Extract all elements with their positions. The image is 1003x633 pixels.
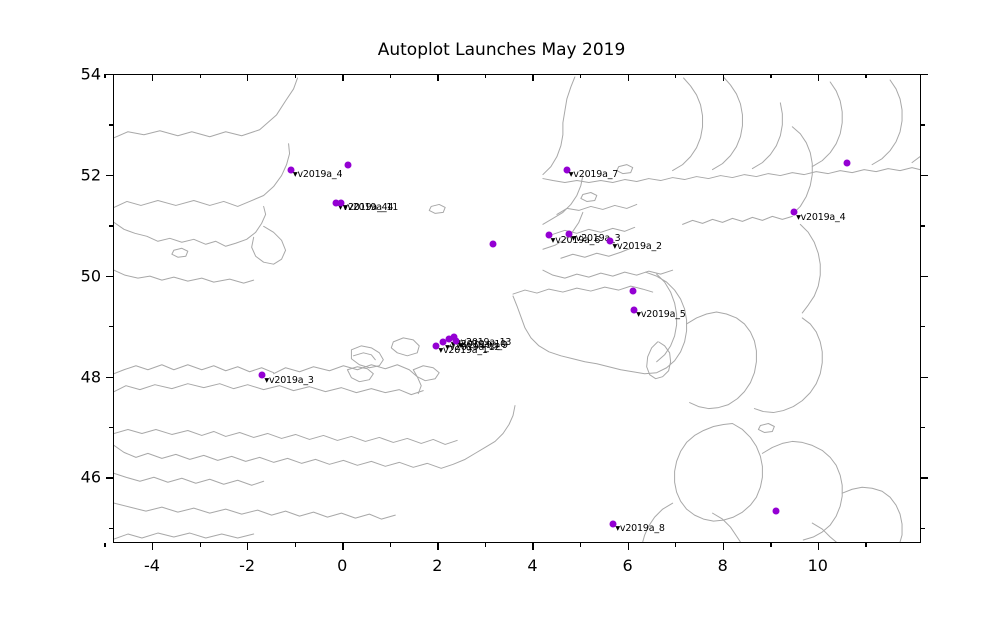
x-axis-minor-tick [295, 543, 296, 547]
x-axis-major-tick-top [437, 74, 438, 81]
x-axis-minor-tick-top [295, 74, 296, 78]
data-point-label: ▾v2019a_9 [458, 341, 507, 351]
y-axis-minor-tick [109, 427, 113, 428]
data-point-marker [772, 508, 779, 515]
y-axis-tick-label: 46 [71, 468, 101, 487]
y-axis-minor-tick-right [921, 124, 925, 125]
x-axis-major-tick [152, 543, 153, 550]
x-axis-major-tick [723, 543, 724, 550]
scatter-points-layer: ▾v2019a_4▾v2019a_44▾v2019a_11▾v2019a_3▾v… [114, 75, 920, 542]
data-point-marker [490, 240, 497, 247]
figure-canvas: Autoplot Launches May 2019 [0, 0, 1003, 633]
data-point-label: ▾v2019a_2 [612, 242, 661, 252]
y-axis-major-tick [106, 74, 113, 75]
y-axis-major-tick [106, 276, 113, 277]
data-point-marker [844, 160, 851, 167]
x-axis-major-tick-top [532, 74, 533, 81]
y-axis-major-tick [106, 477, 113, 478]
x-axis-major-tick [818, 543, 819, 550]
y-axis-minor-tick [109, 124, 113, 125]
y-axis-major-tick-right [921, 175, 928, 176]
y-axis-minor-tick [109, 528, 113, 529]
y-axis-minor-tick-right [921, 225, 925, 226]
y-axis-major-tick-right [921, 276, 928, 277]
y-axis-minor-tick [109, 225, 113, 226]
y-axis-tick-label: 52 [71, 165, 101, 184]
x-axis-tick-label: 2 [432, 556, 442, 575]
x-axis-major-tick [532, 543, 533, 550]
y-axis-minor-tick-right [921, 427, 925, 428]
x-axis-major-tick-top [342, 74, 343, 81]
data-point-marker [344, 161, 351, 168]
y-axis-major-tick [106, 175, 113, 176]
x-axis-minor-tick [770, 543, 771, 547]
y-axis-major-tick-right [921, 477, 928, 478]
x-axis-minor-tick-top [865, 74, 866, 78]
x-axis-minor-tick-top [390, 74, 391, 78]
y-axis-major-tick-right [921, 377, 928, 378]
x-axis-major-tick-top [628, 74, 629, 81]
x-axis-tick-label: 8 [718, 556, 728, 575]
x-axis-tick-label: 10 [808, 556, 828, 575]
y-axis-tick-label: 54 [71, 65, 101, 84]
data-point-label: ▾v2019a_3 [264, 376, 313, 386]
page-title: Autoplot Launches May 2019 [0, 40, 1003, 60]
y-axis-major-tick [106, 377, 113, 378]
x-axis-major-tick [628, 543, 629, 550]
plot-area: ▾v2019a_4▾v2019a_44▾v2019a_11▾v2019a_3▾v… [113, 74, 921, 543]
data-point-label: ▾v2019a_4 [796, 213, 845, 223]
x-axis-minor-tick [390, 543, 391, 547]
data-point-label: ▾v2019a_4 [293, 170, 342, 180]
x-axis-minor-tick [580, 543, 581, 547]
x-axis-major-tick [247, 543, 248, 550]
data-point-label: ▾v2019a_11 [343, 203, 398, 213]
x-axis-major-tick-top [723, 74, 724, 81]
x-axis-major-tick [342, 543, 343, 550]
x-axis-minor-tick [104, 543, 105, 547]
x-axis-minor-tick-top [200, 74, 201, 78]
y-axis-major-tick-right [921, 74, 928, 75]
x-axis-minor-tick [675, 543, 676, 547]
y-axis-minor-tick [109, 326, 113, 327]
data-point-label: ▾v2019a_8 [615, 524, 664, 534]
x-axis-minor-tick-top [770, 74, 771, 78]
y-axis-tick-label: 48 [71, 367, 101, 386]
x-axis-minor-tick [200, 543, 201, 547]
x-axis-tick-label: -2 [239, 556, 255, 575]
data-point-marker [630, 287, 637, 294]
x-axis-minor-tick-top [485, 74, 486, 78]
y-axis-tick-label: 50 [71, 266, 101, 285]
x-axis-major-tick-top [152, 74, 153, 81]
y-axis-minor-tick-right [921, 528, 925, 529]
x-axis-major-tick-top [247, 74, 248, 81]
x-axis-minor-tick-top [580, 74, 581, 78]
x-axis-major-tick-top [818, 74, 819, 81]
x-axis-major-tick [437, 543, 438, 550]
x-axis-tick-label: 0 [337, 556, 347, 575]
x-axis-tick-label: 6 [622, 556, 632, 575]
x-axis-tick-label: 4 [527, 556, 537, 575]
y-axis-minor-tick-right [921, 326, 925, 327]
x-axis-tick-label: -4 [144, 556, 160, 575]
x-axis-minor-tick [865, 543, 866, 547]
x-axis-minor-tick-top [675, 74, 676, 78]
data-point-label: ▾v2019a_5 [636, 310, 685, 320]
data-point-label: ▾v2019a_7 [569, 170, 618, 180]
x-axis-minor-tick [485, 543, 486, 547]
